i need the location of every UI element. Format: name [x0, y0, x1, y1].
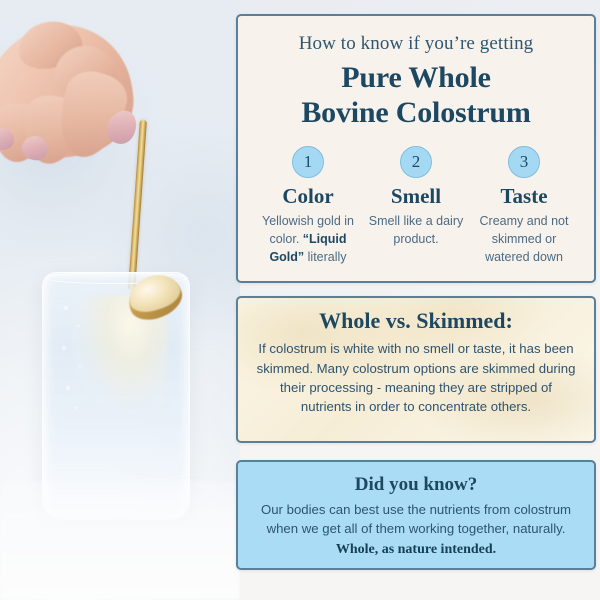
headline-line-1: Pure Whole: [254, 60, 578, 95]
step-desc-smell-pre: Smell like a dairy product.: [369, 214, 463, 246]
step-desc-taste: Creamy and not skimmed or watered down: [475, 213, 573, 266]
did-you-know-card: Did you know? Our bodies can best use th…: [236, 460, 596, 570]
hand-illustration: [0, 18, 172, 218]
step-badge-3: 3: [508, 146, 540, 178]
step-badge-2: 2: [400, 146, 432, 178]
step-badge-1: 1: [292, 146, 324, 178]
counter-surface: [0, 480, 240, 600]
whole-vs-skimmed-title: Whole vs. Skimmed:: [254, 308, 578, 334]
did-you-know-body-pre: Our bodies can best use the nutrients fr…: [261, 502, 571, 537]
step-title-taste: Taste: [475, 185, 573, 208]
whole-vs-skimmed-card: Whole vs. Skimmed: If colostrum is white…: [236, 296, 596, 443]
step-color: 1 Color Yellowish gold in color. “Liquid…: [254, 146, 362, 266]
step-desc-smell: Smell like a dairy product.: [367, 213, 465, 249]
step-desc-taste-pre: Creamy and not skimmed or watered down: [480, 214, 569, 264]
intro-kicker: How to know if you’re getting: [254, 32, 578, 56]
step-title-smell: Smell: [367, 185, 465, 208]
intro-card: How to know if you’re getting Pure Whole…: [236, 14, 596, 283]
whole-vs-skimmed-body: If colostrum is white with no smell or t…: [254, 339, 578, 416]
step-smell: 2 Smell Smell like a dairy product.: [362, 146, 470, 266]
content-panel: How to know if you’re getting Pure Whole…: [234, 0, 600, 600]
step-taste: 3 Taste Creamy and not skimmed or watere…: [470, 146, 578, 266]
step-desc-color: Yellowish gold in color. “Liquid Gold” l…: [259, 213, 357, 266]
steps-row: 1 Color Yellowish gold in color. “Liquid…: [254, 146, 578, 266]
intro-headline: Pure Whole Bovine Colostrum: [254, 60, 578, 130]
headline-line-2: Bovine Colostrum: [254, 95, 578, 130]
step-title-color: Color: [259, 185, 357, 208]
step-desc-color-post: literally: [304, 250, 346, 264]
did-you-know-body: Our bodies can best use the nutrients fr…: [254, 500, 578, 561]
infographic-canvas: How to know if you’re getting Pure Whole…: [0, 0, 600, 600]
product-photo: [0, 0, 240, 600]
did-you-know-title: Did you know?: [254, 474, 578, 497]
did-you-know-body-bold: Whole, as nature intended.: [336, 542, 496, 557]
